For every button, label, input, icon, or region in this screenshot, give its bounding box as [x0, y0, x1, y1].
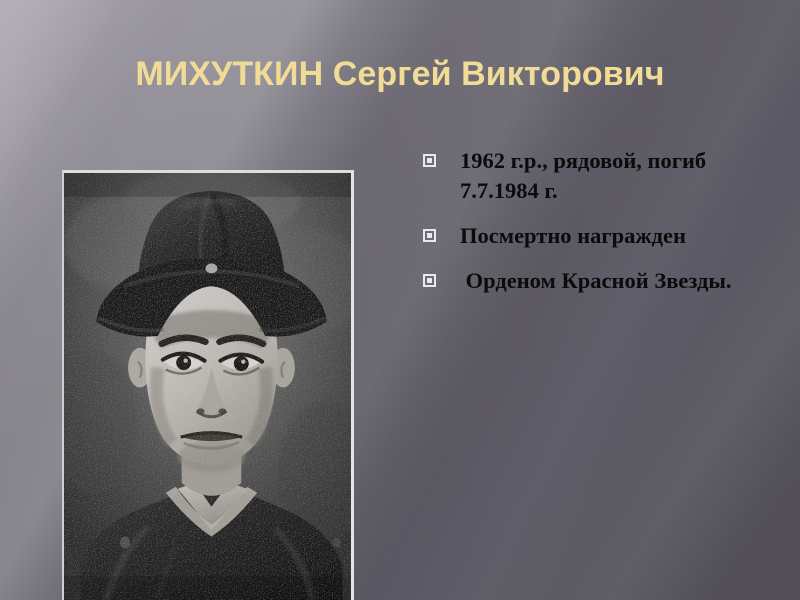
list-item: 1962 г.р., рядовой, погиб 7.7.1984 г.: [418, 146, 790, 206]
square-bullet-icon: [423, 154, 436, 167]
portrait-photo: [62, 170, 354, 600]
memorial-slide: МИХУТКИН Сергей Викторович: [0, 0, 800, 600]
list-item-label: 1962 г.р., рядовой, погиб 7.7.1984 г.: [460, 146, 790, 206]
list-item-label: Посмертно награжден: [460, 221, 790, 251]
list-item-label: Орденом Красной Звезды.: [460, 266, 790, 296]
list-item: Посмертно награжден: [418, 221, 790, 251]
bullet-list: 1962 г.р., рядовой, погиб 7.7.1984 г. По…: [418, 146, 790, 296]
portrait-photo-image: [64, 173, 351, 600]
page-title: МИХУТКИН Сергей Викторович: [0, 52, 800, 96]
square-bullet-icon: [423, 229, 436, 242]
list-item: Орденом Красной Звезды.: [418, 266, 790, 296]
square-bullet-icon: [423, 274, 436, 287]
